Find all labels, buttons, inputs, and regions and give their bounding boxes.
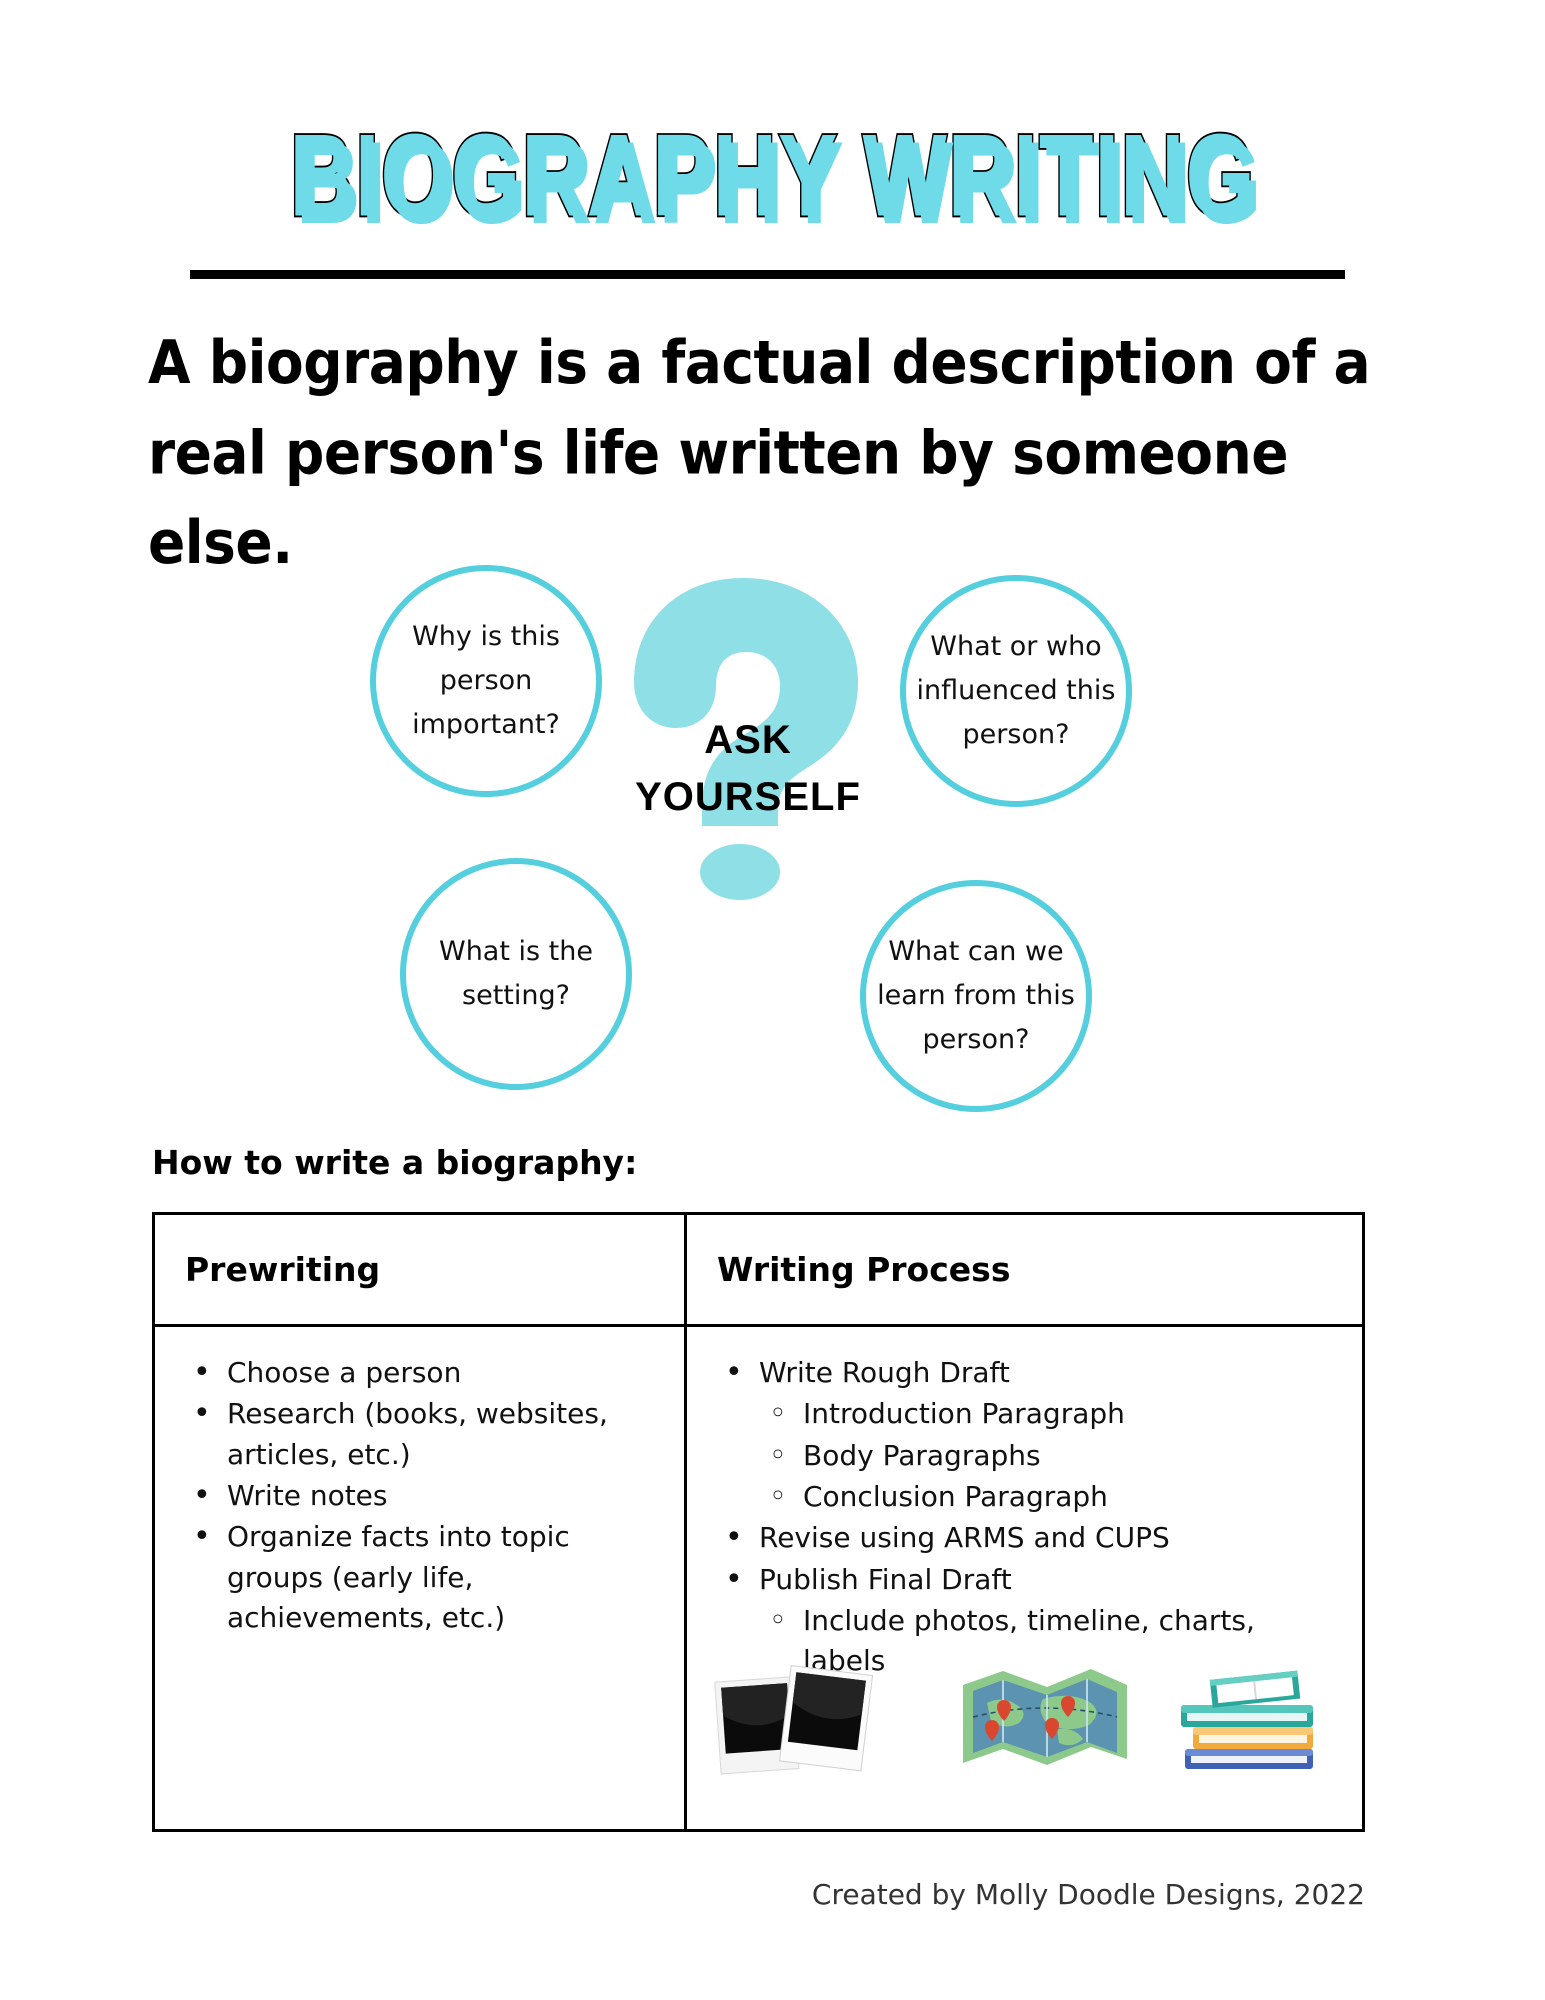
list-item: Organize facts into topic groups (early … xyxy=(185,1517,664,1638)
title-container: BIOGRAPHY WRITING xyxy=(0,118,1545,214)
prewriting-list: Choose a personResearch (books, websites… xyxy=(185,1353,664,1638)
sub-list-item: Body Paragraphs xyxy=(761,1436,1342,1476)
question-bubble-setting: What is the setting? xyxy=(400,858,632,1090)
ask-yourself-diagram: ASK YOURSELF Why is this person importan… xyxy=(360,540,1180,1100)
question-bubble-why-important: Why is this person important? xyxy=(370,565,602,797)
question-bubble-who-influenced: What or who influenced this person? xyxy=(900,575,1132,807)
table-header-writing-process: Writing Process xyxy=(687,1215,1362,1324)
question-bubble-learn-from: What can we learn from this person? xyxy=(860,880,1092,1112)
list-item: Revise using ARMS and CUPS xyxy=(717,1518,1342,1558)
stacked-books-icon xyxy=(1167,1657,1342,1782)
page-title: BIOGRAPHY WRITING xyxy=(289,118,1256,235)
list-item: Write Rough Draft xyxy=(717,1353,1342,1393)
list-item: Choose a person xyxy=(185,1353,664,1393)
sub-list: Introduction ParagraphBody ParagraphsCon… xyxy=(761,1394,1342,1517)
table-header-row: Prewriting Writing Process xyxy=(155,1215,1362,1327)
worksheet-page: BIOGRAPHY WRITING A biography is a factu… xyxy=(0,0,1545,2000)
list-item: Write notes xyxy=(185,1476,664,1516)
table-header-prewriting: Prewriting xyxy=(155,1215,687,1324)
section-heading-how-to-write: How to write a biography: xyxy=(152,1143,637,1182)
clipart-row xyxy=(712,1655,1332,1785)
title-underline-rule xyxy=(190,270,1345,279)
list-item: Research (books, websites, articles, etc… xyxy=(185,1394,664,1475)
writing-process-list: Write Rough DraftIntroduction ParagraphB… xyxy=(717,1353,1342,1682)
footer-credit: Created by Molly Doodle Designs, 2022 xyxy=(812,1878,1365,1911)
polaroid-photos-icon xyxy=(712,1657,887,1782)
folded-map-icon xyxy=(957,1655,1132,1780)
table-cell-prewriting: Choose a personResearch (books, websites… xyxy=(155,1327,687,1829)
ask-label-line2: YOURSELF xyxy=(598,769,898,826)
sub-list-item: Conclusion Paragraph xyxy=(761,1477,1342,1517)
list-item: Publish Final Draft xyxy=(717,1560,1342,1600)
sub-list-item: Introduction Paragraph xyxy=(761,1394,1342,1434)
ask-yourself-label: ASK YOURSELF xyxy=(598,712,898,826)
ask-label-line1: ASK xyxy=(598,712,898,769)
